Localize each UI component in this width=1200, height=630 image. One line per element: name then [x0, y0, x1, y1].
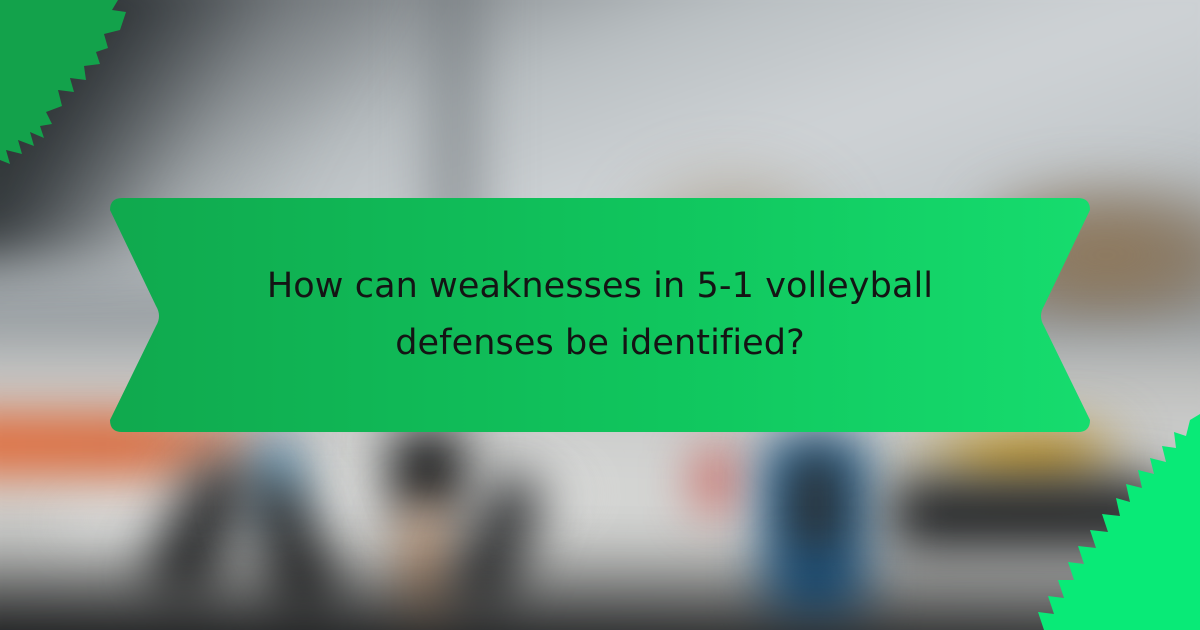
title-line-1: How can weaknesses in 5-1 volleyball [267, 258, 933, 315]
title-text-block: How can weaknesses in 5-1 volleyball def… [170, 198, 1030, 432]
share-card: How can weaknesses in 5-1 volleyball def… [0, 0, 1200, 630]
title-ribbon: How can weaknesses in 5-1 volleyball def… [110, 198, 1090, 432]
title-line-2: defenses be identified? [395, 315, 805, 372]
